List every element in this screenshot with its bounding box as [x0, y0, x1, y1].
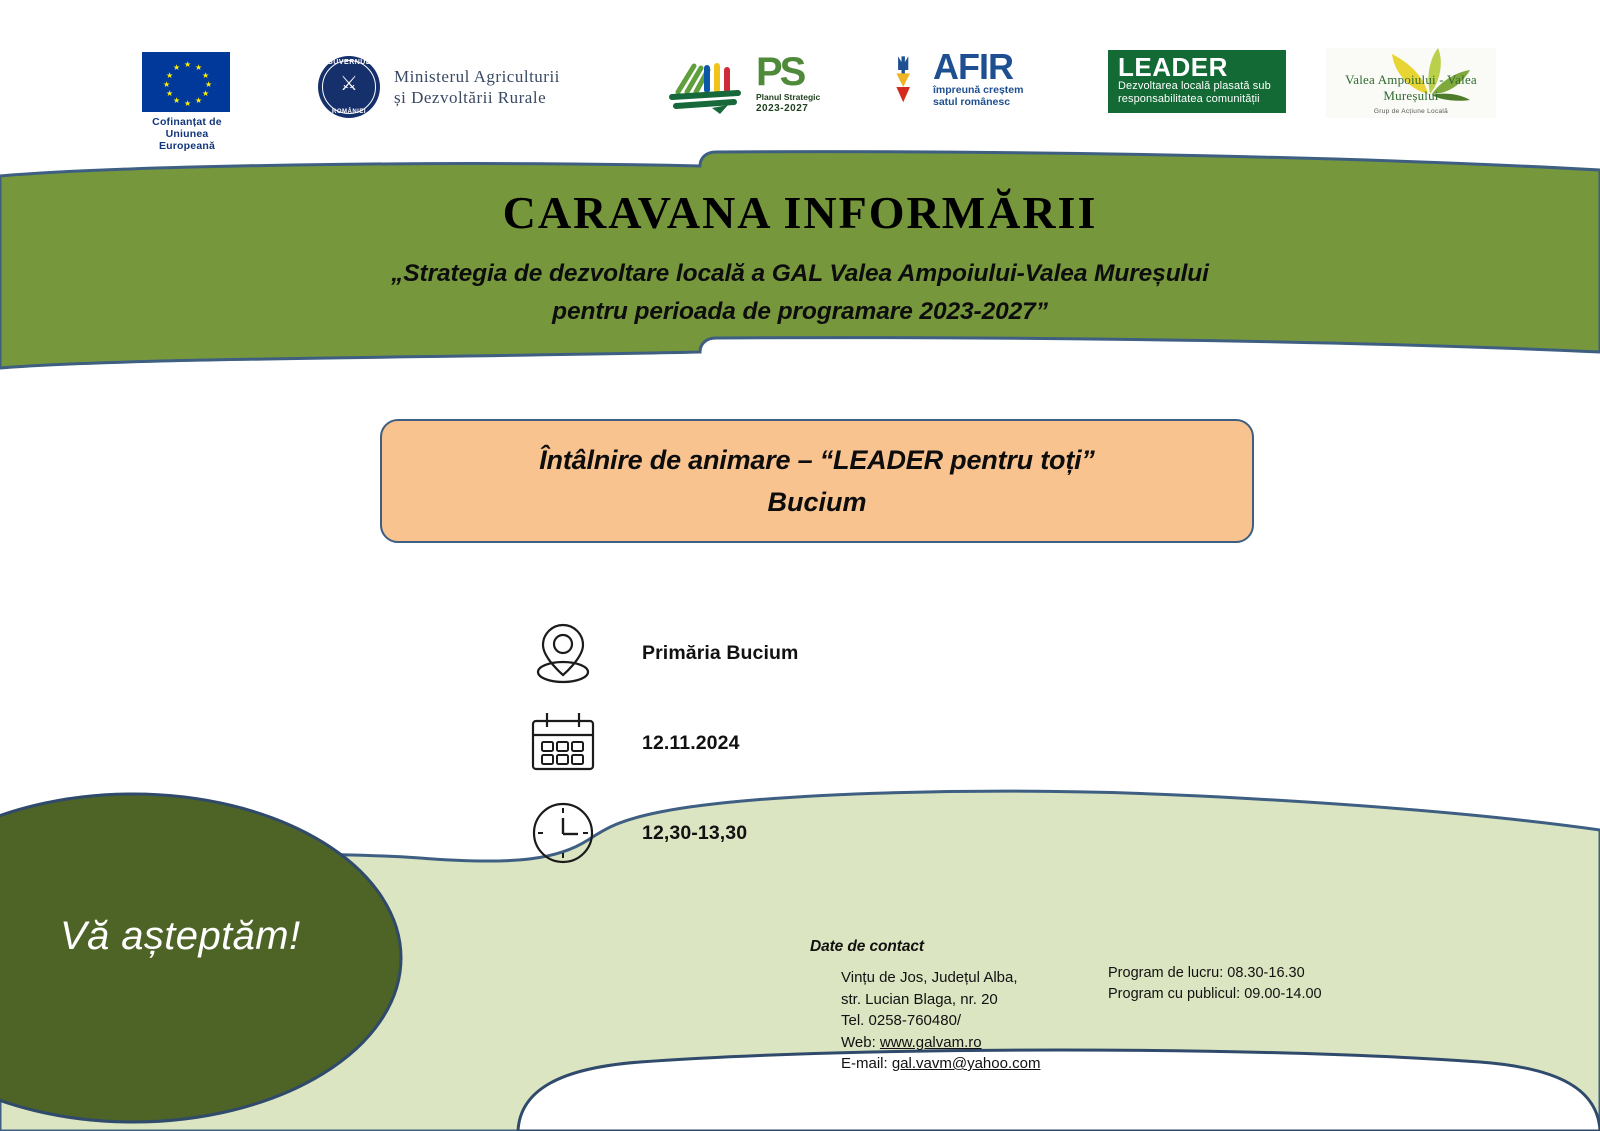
schedule-work-hours: Program de lucru: 08.30-16.30: [1108, 963, 1322, 984]
contact-web-label: Web:: [841, 1034, 880, 1051]
contact-email-label: E-mail:: [841, 1055, 892, 1072]
schedule-block: Program de lucru: 08.30-16.30 Program cu…: [1108, 963, 1322, 1005]
ps-logo: PS Planul Strategic 2023-2027: [668, 52, 820, 114]
leader-sub-line2: responsabilitatea comunității: [1118, 93, 1278, 106]
government-logo: GUVERNUL ⚔ ROMÂNIEI Ministerul Agricultu…: [318, 56, 560, 118]
schedule-public-hours: Program cu publicul: 09.00-14.00: [1108, 984, 1322, 1005]
closing-message: Vă așteptăm!: [60, 912, 300, 960]
detail-value-date: 12.11.2024: [642, 732, 740, 755]
detail-value-location: Primăria Bucium: [642, 642, 798, 665]
white-bottom-shape: [518, 1050, 1600, 1131]
event-details: Primăria Bucium 12.11.2024: [520, 608, 798, 878]
leader-sub-line1: Dezvoltarea locală plasată sub: [1118, 80, 1278, 93]
contact-block: Date de contact Vințu de Jos, Județul Al…: [810, 938, 1040, 1075]
background-decoration: [0, 0, 1600, 1131]
ps-sheaf-icon: [668, 52, 746, 114]
gal-subtitle: Grup de Acțiune Locală: [1326, 108, 1496, 115]
eu-caption-line1: Cofinanțat de: [142, 116, 232, 128]
detail-row-location: Primăria Bucium: [520, 608, 798, 698]
poster-subtitle-line2: pentru perioada de programare 2023-2027”: [0, 293, 1600, 331]
ps-subtitle: Planul Strategic: [756, 92, 820, 103]
event-title-box: Întâlnire de animare – “LEADER pentru to…: [380, 419, 1254, 543]
ps-years: 2023-2027: [756, 103, 820, 114]
location-pin-icon: [520, 620, 606, 686]
afir-sub-line2: satul românesc: [933, 96, 1023, 108]
afir-logo: AFIR împreună creștem satul românesc: [893, 50, 1023, 117]
gal-logo: Valea Ampoiului - Valea Mureșului Grup d…: [1326, 48, 1496, 118]
detail-value-time: 12,30-13,30: [642, 822, 747, 845]
detail-row-date: 12.11.2024: [520, 698, 798, 788]
gal-name: Valea Ampoiului - Valea Mureșului: [1326, 72, 1496, 104]
eu-caption-line2: Uniunea Europeană: [142, 128, 232, 152]
eu-flag-icon: ★ ★ ★ ★ ★ ★ ★ ★ ★ ★ ★ ★: [142, 52, 230, 112]
afir-wheat-icon: [893, 50, 927, 117]
contact-address-line1: Vințu de Jos, Județul Alba,: [841, 967, 1040, 989]
afir-word: AFIR: [933, 50, 1023, 84]
ministry-line2: și Dezvoltării Rurale: [394, 87, 560, 108]
logo-strip: ★ ★ ★ ★ ★ ★ ★ ★ ★ ★ ★ ★ Cofinanțat de Un…: [0, 0, 1600, 150]
ministry-line1: Ministerul Agriculturii: [394, 66, 560, 87]
romania-seal-icon: GUVERNUL ⚔ ROMÂNIEI: [318, 56, 380, 118]
clock-icon: [520, 800, 606, 866]
afir-sub-line1: împreună creștem: [933, 84, 1023, 96]
event-title-line1: Întâlnire de animare – “LEADER pentru to…: [539, 439, 1095, 481]
contact-phone: Tel. 0258-760480/: [841, 1010, 1040, 1032]
contact-email-link[interactable]: gal.vavm@yahoo.com: [892, 1055, 1041, 1072]
contact-title: Date de contact: [810, 938, 1040, 956]
calendar-icon: [520, 711, 606, 775]
leader-title: LEADER: [1118, 54, 1278, 80]
banner-text-block: CARAVANA INFORMĂRII „Strategia de dezvol…: [0, 185, 1600, 331]
poster-title: CARAVANA INFORMĂRII: [0, 185, 1600, 241]
contact-web-link[interactable]: www.galvam.ro: [880, 1034, 982, 1051]
detail-row-time: 12,30-13,30: [520, 788, 798, 878]
seal-bottom-text: ROMÂNIEI: [318, 109, 380, 115]
eagle-icon: ⚔: [340, 74, 358, 94]
contact-address-line2: str. Lucian Blaga, nr. 20: [841, 989, 1040, 1011]
poster-subtitle-line1: „Strategia de dezvoltare locală a GAL Va…: [0, 255, 1600, 293]
contact-web-row: Web: www.galvam.ro: [841, 1032, 1040, 1054]
contact-email-row: E-mail: gal.vavm@yahoo.com: [841, 1053, 1040, 1075]
poster-canvas: ★ ★ ★ ★ ★ ★ ★ ★ ★ ★ ★ ★ Cofinanțat de Un…: [0, 0, 1600, 1131]
eu-logo: ★ ★ ★ ★ ★ ★ ★ ★ ★ ★ ★ ★ Cofinanțat de Un…: [142, 52, 232, 152]
leader-logo: LEADER Dezvoltarea locală plasată sub re…: [1108, 50, 1286, 113]
event-title-line2: Bucium: [767, 481, 866, 523]
ps-letters: PS: [756, 54, 820, 90]
seal-top-text: GUVERNUL: [318, 59, 380, 66]
